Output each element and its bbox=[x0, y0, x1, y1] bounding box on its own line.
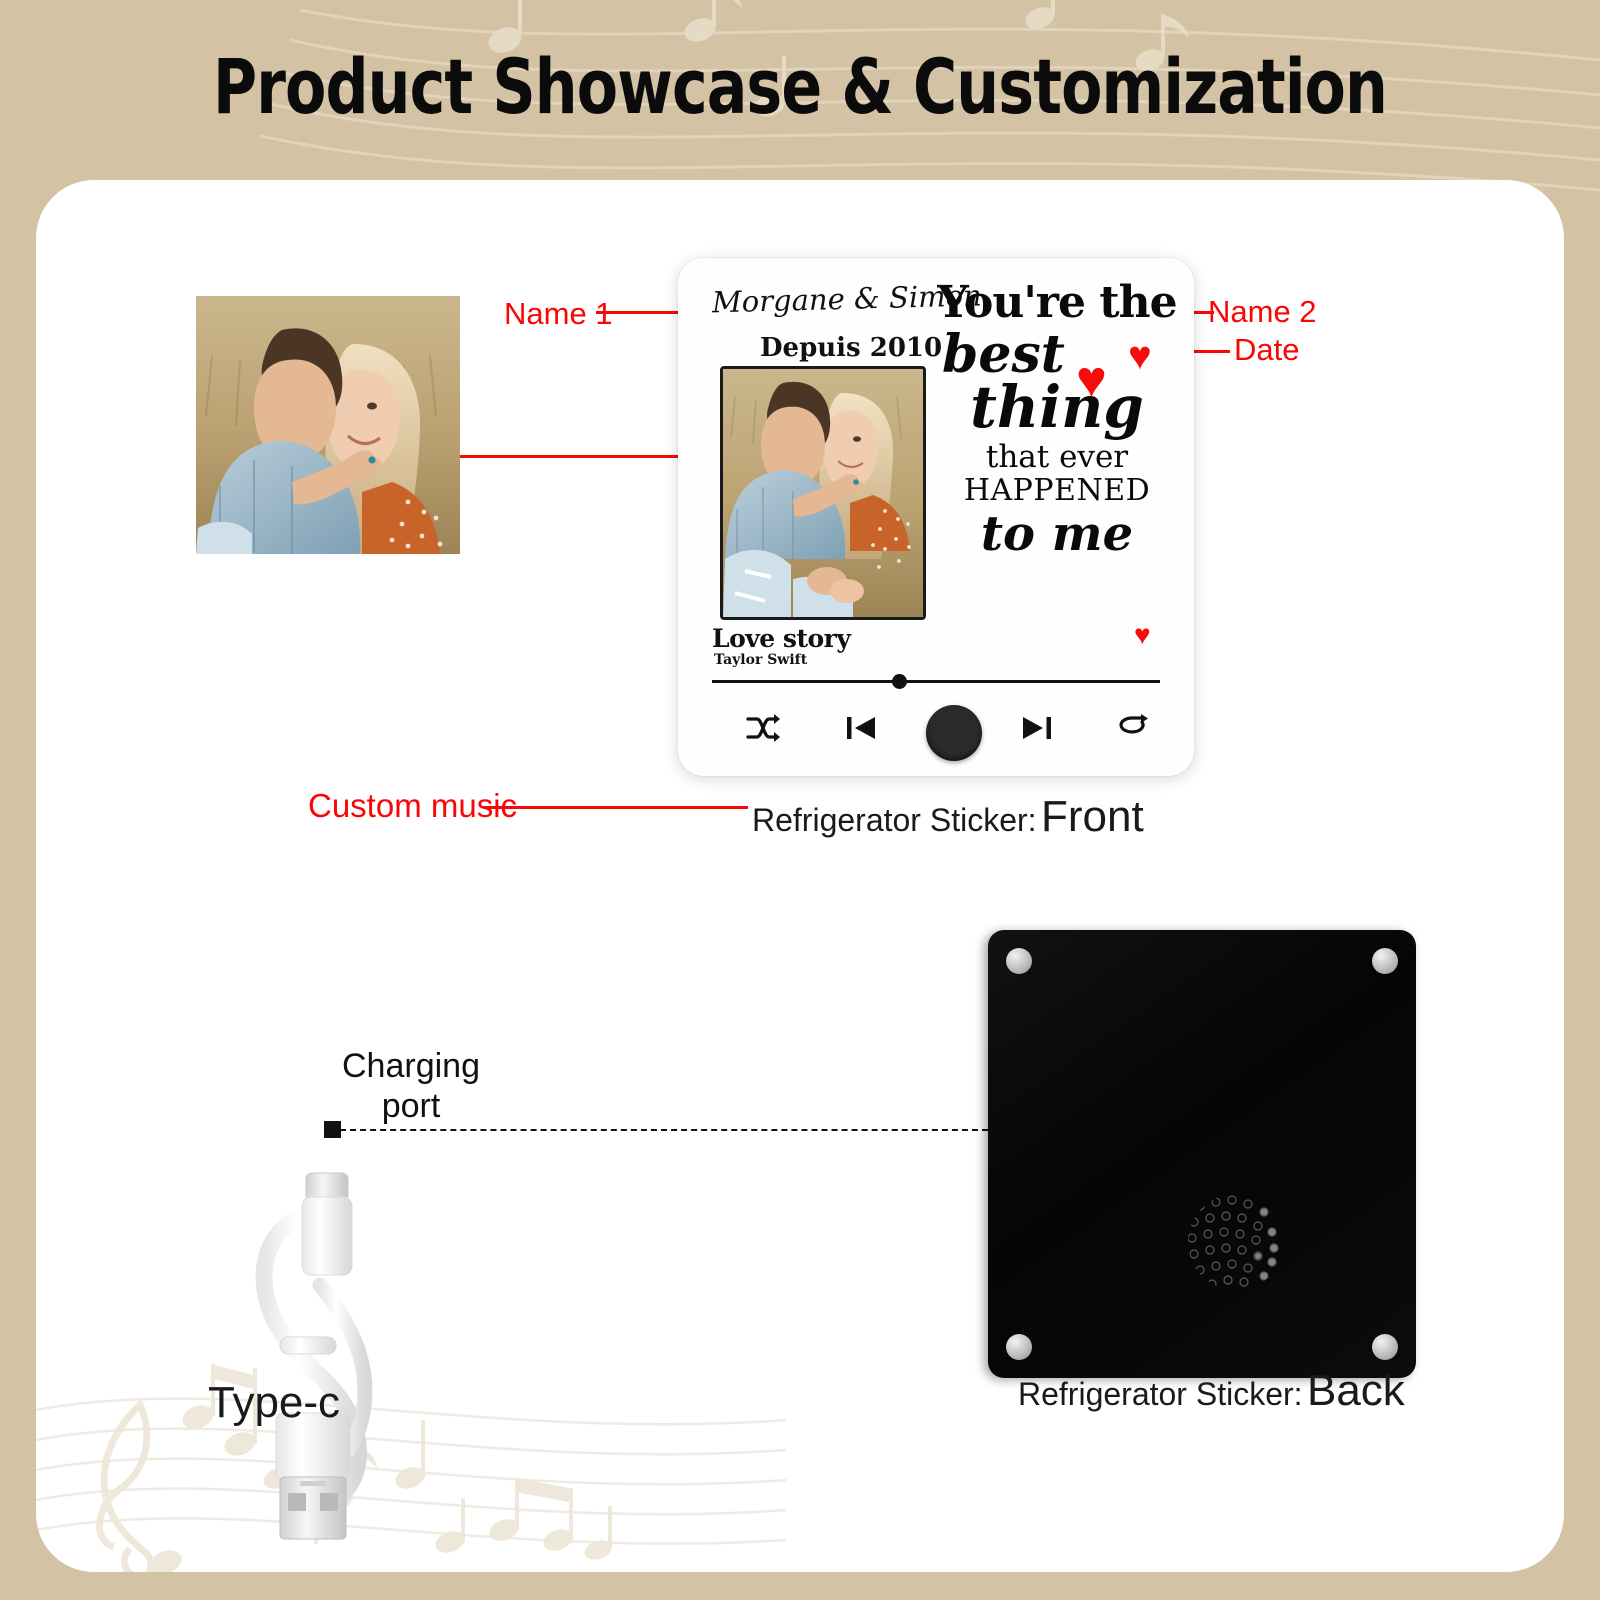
previous-track-icon[interactable] bbox=[846, 713, 876, 743]
front-caption: Refrigerator Sticker: Front bbox=[752, 792, 1144, 842]
screw-icon bbox=[1372, 948, 1398, 974]
charging-port-label-line1: Charging bbox=[342, 1046, 480, 1086]
heart-icon: ♥ bbox=[1076, 354, 1107, 406]
quote-line-4: that ever bbox=[928, 440, 1186, 474]
front-device-panel: Morgane & Simon Depuis 2010 bbox=[678, 258, 1194, 776]
play-button[interactable] bbox=[926, 705, 982, 761]
front-caption-value: Front bbox=[1041, 792, 1144, 841]
device-photo bbox=[720, 366, 926, 620]
header: Product Showcase & Customization bbox=[0, 0, 1600, 180]
player-controls bbox=[712, 703, 1160, 773]
name1-label: Name 1 bbox=[504, 296, 613, 332]
date-label: Date bbox=[1234, 332, 1299, 368]
progress-bar[interactable] bbox=[712, 680, 1160, 683]
charging-port-marker bbox=[324, 1121, 341, 1138]
cable-caption-value: Type-c bbox=[208, 1378, 340, 1427]
quote-line-3: thing bbox=[928, 378, 1186, 436]
usb-cable bbox=[232, 1155, 412, 1555]
back-caption-prefix: Refrigerator Sticker: bbox=[1018, 1376, 1303, 1412]
next-track-icon[interactable] bbox=[1022, 713, 1052, 743]
custom-date-text: Depuis 2010 bbox=[760, 333, 942, 363]
speaker-grille-icon bbox=[1186, 1192, 1286, 1292]
name2-label: Name 2 bbox=[1208, 294, 1317, 330]
page-title: Product Showcase & Customization bbox=[96, 42, 1504, 131]
heart-icon: ♥ bbox=[1128, 336, 1152, 376]
charging-port-leader-line bbox=[340, 1129, 988, 1131]
content-card: Custom photo bbox=[36, 180, 1564, 1572]
shuffle-icon[interactable] bbox=[746, 713, 780, 743]
back-device-panel bbox=[988, 930, 1416, 1378]
back-caption: Refrigerator Sticker: Back bbox=[1018, 1366, 1405, 1416]
charging-port-label: Charging port bbox=[342, 1046, 480, 1126]
front-caption-prefix: Refrigerator Sticker: bbox=[752, 802, 1037, 838]
custom-photo-thumbnail bbox=[196, 296, 460, 554]
charging-port-label-line2: port bbox=[342, 1086, 480, 1126]
screw-icon bbox=[1372, 1334, 1398, 1360]
cable-caption: Type-c bbox=[208, 1378, 340, 1428]
back-caption-value: Back bbox=[1307, 1366, 1405, 1415]
screw-icon bbox=[1006, 948, 1032, 974]
song-title: Love story bbox=[712, 624, 850, 653]
screw-icon bbox=[1006, 1334, 1032, 1360]
quote-line-5: HAPPENED bbox=[928, 474, 1186, 507]
heart-icon: ♥ bbox=[1134, 621, 1151, 649]
song-artist: Taylor Swift bbox=[714, 652, 807, 668]
quote-line-6: to me bbox=[928, 509, 1186, 559]
leader-line-custom-music bbox=[484, 806, 748, 809]
quote-line-1: You're the bbox=[928, 280, 1186, 326]
repeat-icon[interactable] bbox=[1116, 713, 1150, 743]
progress-knob[interactable] bbox=[892, 674, 907, 689]
